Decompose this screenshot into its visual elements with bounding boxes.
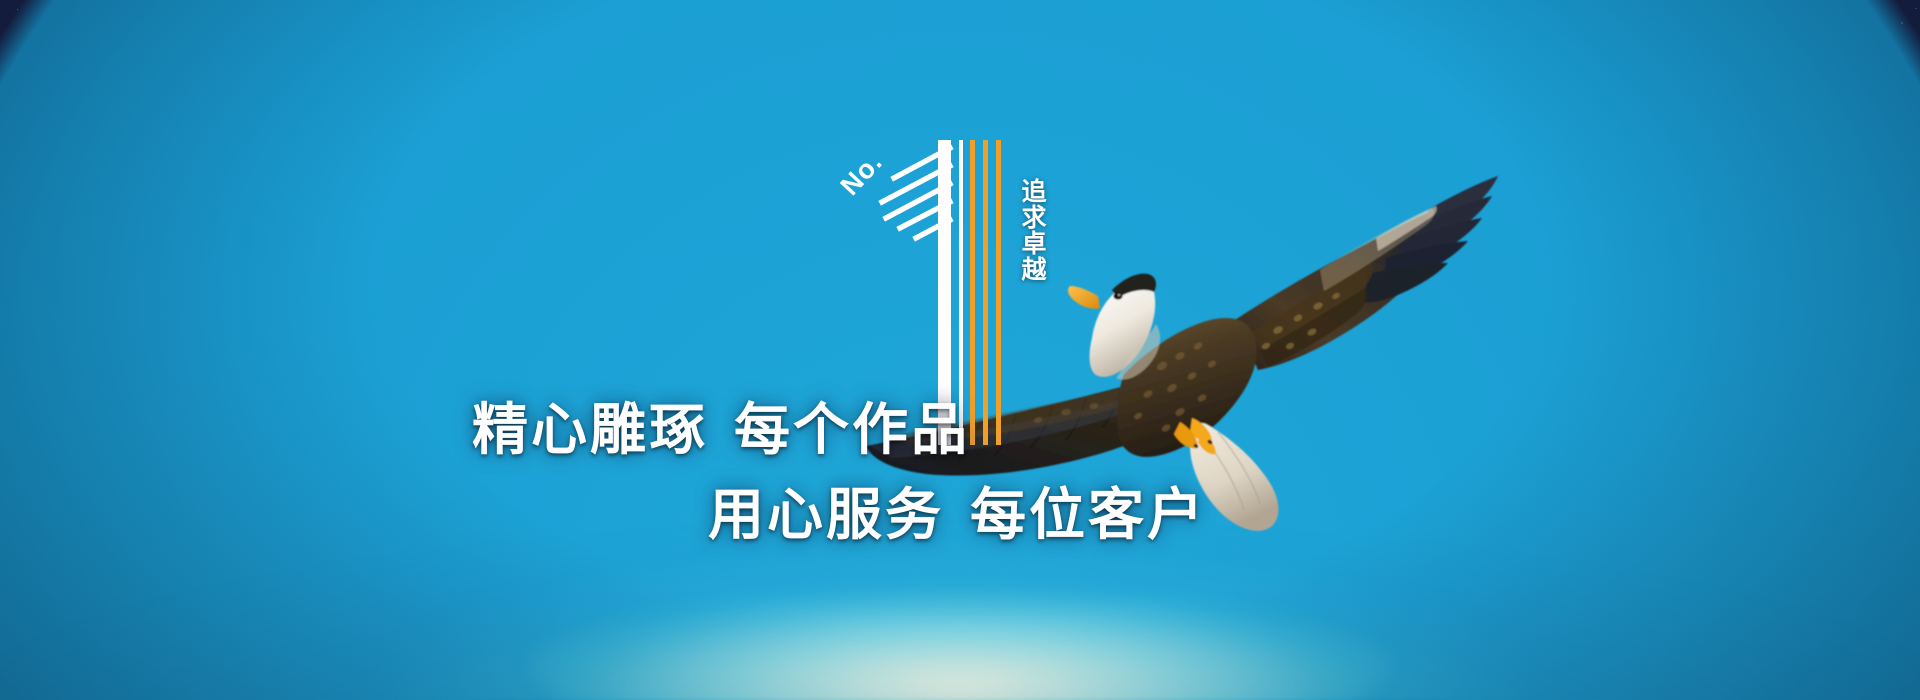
headline-line-1: 精心雕琢每个作品 [472,385,970,466]
accent-orange-line-bar-3 [996,140,1001,445]
headline-2-left: 用心服务 [708,483,944,546]
headline-1-left: 精心雕琢 [472,398,708,461]
vertical-slogan: 追求卓越 [1010,178,1053,282]
headline-line-2: 用心服务每位客户 [708,470,1206,551]
headline-1-right: 每个作品 [734,398,970,461]
accent-orange-line-bar-2 [983,140,988,445]
hero-banner: No. 追求卓越 精心雕琢每个作品 用心服务每位客户 [0,0,1920,700]
headline-2-right: 每位客户 [970,483,1206,546]
accent-orange-line-bar-1 [970,140,975,445]
